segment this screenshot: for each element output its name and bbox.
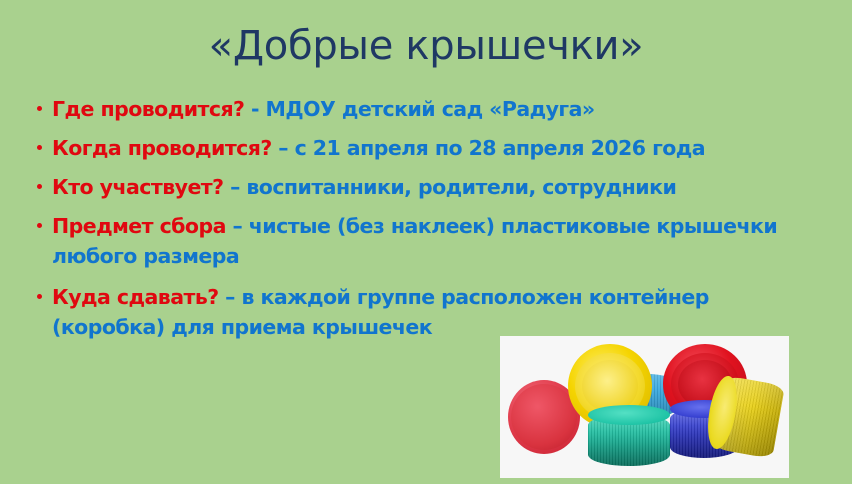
bullet-lead: Когда проводится? [52, 136, 272, 160]
bullet-dot-icon [37, 106, 42, 111]
list-item: Где проводится? - МДОУ детский сад «Раду… [34, 94, 794, 124]
list-item: Предмет сбора – чистые (без наклеек) пла… [34, 211, 794, 271]
bullet-lead: Где проводится? [52, 97, 244, 121]
cap-yellow-right [711, 375, 785, 459]
bullet-rest: - МДОУ детский сад «Радуга» [244, 97, 594, 121]
bullet-rest: – воспитанники, родители, сотрудники [223, 175, 676, 199]
cap-teal-front [588, 414, 670, 466]
bullet-lead: Кто участвует? [52, 175, 223, 199]
list-item: Куда сдавать? – в каждой группе располож… [34, 282, 794, 342]
bullet-dot-icon [37, 223, 42, 228]
bullet-dot-icon [37, 145, 42, 150]
bullet-lead: Куда сдавать? [52, 285, 219, 309]
plastic-bottle-caps-photo [500, 336, 789, 478]
page-title: «Добрые крышечки» [0, 22, 852, 70]
bullet-dot-icon [37, 184, 42, 189]
list-item: Кто участвует? – воспитанники, родители,… [34, 172, 794, 202]
list-item: Когда проводится? – с 21 апреля по 28 ап… [34, 133, 794, 163]
bullet-rest: – с 21 апреля по 28 апреля 2026 года [272, 136, 705, 160]
slide-canvas: «Добрые крышечки» Где проводится? - МДОУ… [0, 0, 852, 484]
bullet-dot-icon [37, 294, 42, 299]
bullet-lead: Предмет сбора [52, 214, 226, 238]
bullet-list: Где проводится? - МДОУ детский сад «Раду… [34, 94, 794, 353]
